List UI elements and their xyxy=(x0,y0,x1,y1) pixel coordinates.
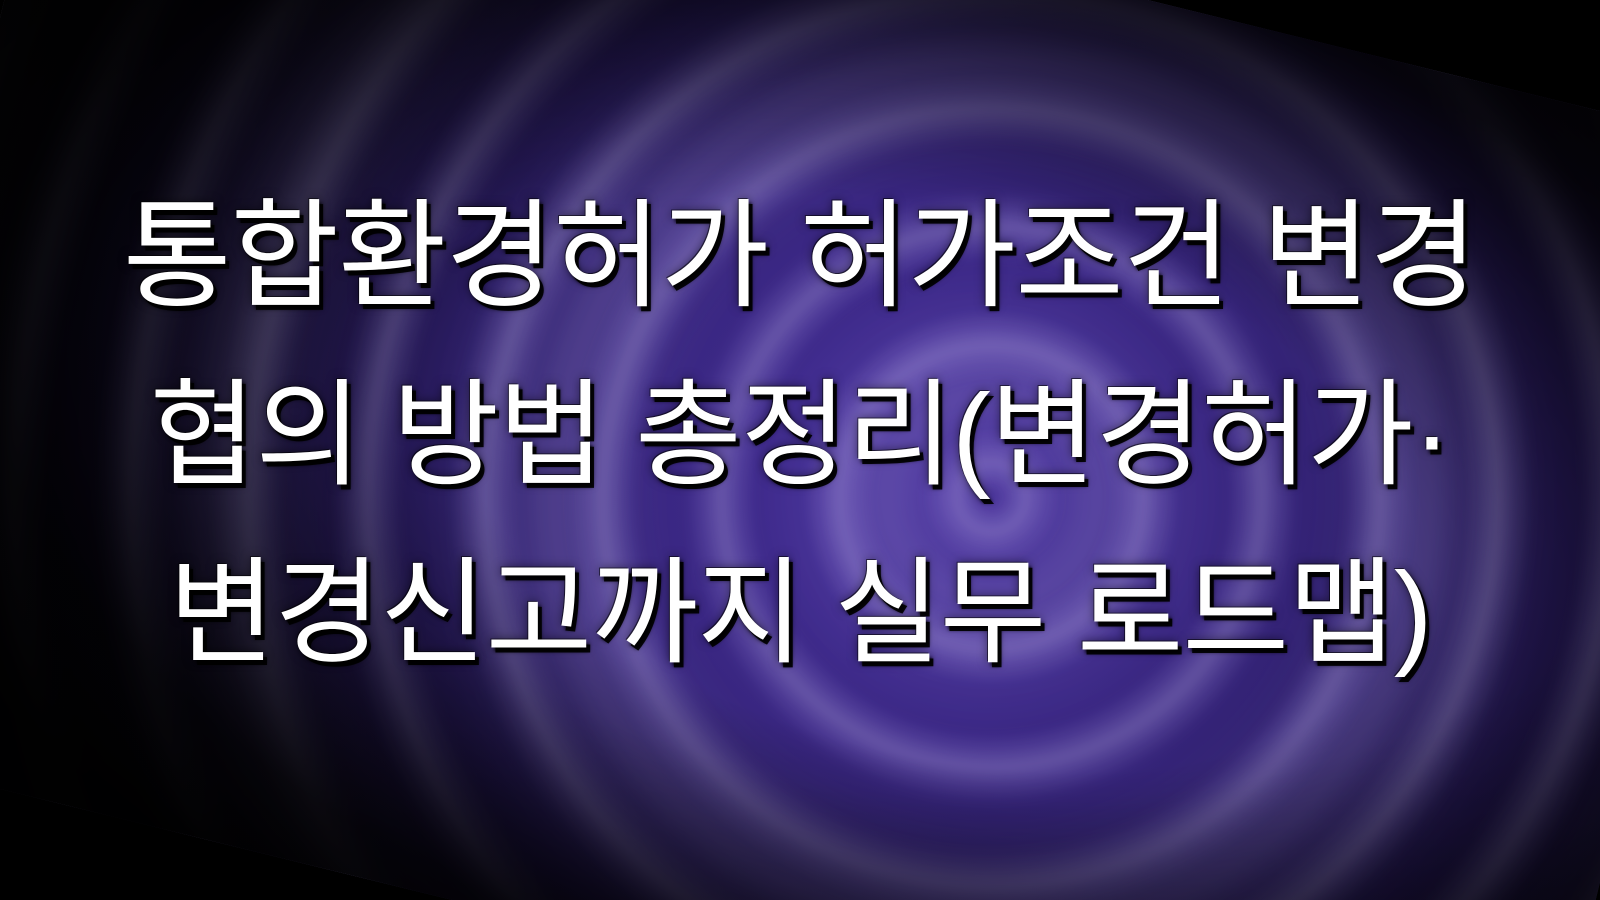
title-slide: 통합환경허가 허가조건 변경 협의 방법 총정리(변경허가· 변경신고까지 실무… xyxy=(0,0,1600,900)
title-line-3: 변경신고까지 실무 로드맵) xyxy=(28,524,1572,702)
page-title: 통합환경허가 허가조건 변경 협의 방법 총정리(변경허가· 변경신고까지 실무… xyxy=(0,168,1600,702)
title-line-1: 통합환경허가 허가조건 변경 xyxy=(28,168,1572,346)
title-line-2: 협의 방법 총정리(변경허가· xyxy=(28,346,1572,524)
